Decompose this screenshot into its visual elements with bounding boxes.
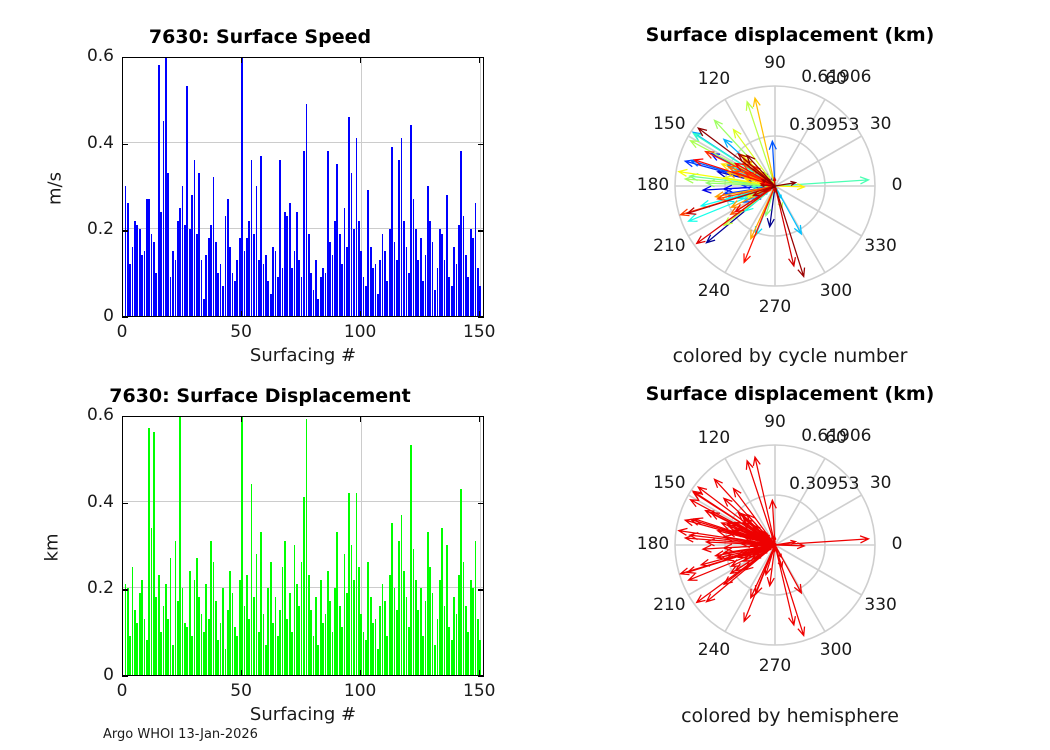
panel-polar-hemisphere: Surface displacement (km) 03060901201501…	[530, 375, 1050, 750]
y-tick-mark	[478, 503, 484, 504]
polar-angle-label-30: 30	[851, 114, 911, 134]
polar-angle-label-240: 240	[684, 281, 744, 301]
y-tick-label: 0.6	[52, 405, 114, 425]
y-tick-mark	[478, 144, 484, 145]
polar-radius-label-0: 0.30953	[789, 115, 859, 135]
x-tick-mark	[479, 311, 480, 317]
x-tick-mark	[360, 311, 361, 317]
panel-surface-speed: 7630: Surface Speed 00.20.40.6050100150 …	[0, 0, 520, 375]
y-tick-mark	[478, 317, 484, 318]
surface-displacement-ylabel: km	[42, 488, 63, 608]
polar-angle-label-120: 120	[684, 428, 744, 448]
x-tick-mark	[241, 57, 242, 63]
argo-float-summary-figure: 7630: Surface Speed 00.20.40.6050100150 …	[0, 0, 1050, 750]
x-tick-mark	[122, 57, 123, 63]
polar-spoke	[775, 495, 862, 545]
y-tick-mark	[478, 589, 484, 590]
x-tick-mark	[122, 416, 123, 422]
x-tick-mark	[122, 670, 123, 676]
polar-cycle-caption: colored by cycle number	[530, 345, 1050, 367]
y-tick-mark	[122, 503, 128, 504]
polar-angle-label-150: 150	[639, 114, 699, 134]
surface-speed-xlabel: Surfacing #	[122, 345, 484, 366]
polar-angle-label-90: 90	[745, 412, 805, 432]
x-tick-label: 100	[320, 322, 400, 342]
y-tick-mark	[122, 144, 128, 145]
polar-radius-label-1: 0.61906	[801, 67, 871, 87]
quiver-arrow	[775, 186, 795, 266]
y-tick-mark	[122, 589, 128, 590]
y-tick-mark	[122, 230, 128, 231]
x-tick-label: 0	[82, 681, 162, 701]
polar-angle-label-90: 90	[745, 53, 805, 73]
polar-angle-label-270: 270	[745, 656, 805, 676]
surface-speed-plot-area	[122, 57, 484, 317]
x-tick-mark	[360, 670, 361, 676]
y-tick-mark	[122, 317, 128, 318]
x-tick-mark	[122, 311, 123, 317]
x-tick-label: 50	[201, 322, 281, 342]
polar-angle-label-210: 210	[639, 595, 699, 615]
polar-angle-label-210: 210	[639, 236, 699, 256]
y-tick-mark	[478, 676, 484, 677]
polar-hemisphere-caption: colored by hemisphere	[530, 705, 1050, 727]
polar-angle-label-240: 240	[684, 640, 744, 660]
polar-spoke	[775, 136, 862, 186]
surface-speed-ylabel: m/s	[45, 129, 66, 249]
x-tick-mark	[479, 57, 480, 63]
bar-series	[123, 58, 483, 316]
polar-spoke	[775, 458, 825, 545]
polar-angle-label-330: 330	[851, 236, 911, 256]
quiver-arrow	[775, 545, 795, 625]
polar-angle-label-300: 300	[806, 281, 866, 301]
polar-radius-label-0: 0.30953	[789, 474, 859, 494]
x-tick-label: 150	[439, 322, 519, 342]
x-tick-mark	[241, 416, 242, 422]
polar-angle-label-180: 180	[623, 175, 683, 195]
bar-series	[123, 417, 483, 675]
x-tick-label: 150	[439, 681, 519, 701]
x-tick-mark	[360, 416, 361, 422]
polar-spoke	[775, 99, 825, 186]
y-tick-mark	[478, 230, 484, 231]
polar-angle-label-150: 150	[639, 473, 699, 493]
polar-radius-label-1: 0.61906	[801, 426, 871, 446]
polar-angle-label-300: 300	[806, 640, 866, 660]
footer-timestamp: Argo WHOI 13-Jan-2026	[103, 727, 258, 742]
polar-angle-label-30: 30	[851, 473, 911, 493]
polar-angle-label-330: 330	[851, 595, 911, 615]
polar-plot-canvas	[530, 0, 1050, 330]
x-tick-label: 50	[201, 681, 281, 701]
panel-surface-displacement: 7630: Surface Displacement 00.20.40.6050…	[0, 375, 520, 750]
x-tick-mark	[360, 57, 361, 63]
x-tick-label: 0	[82, 322, 162, 342]
polar-angle-label-0: 0	[867, 175, 927, 195]
polar-angle-label-120: 120	[684, 69, 744, 89]
polar-angle-label-270: 270	[745, 297, 805, 317]
polar-angle-label-0: 0	[867, 534, 927, 554]
panel-polar-cycle: Surface displacement (km) 03060901201501…	[530, 0, 1050, 375]
y-tick-mark	[122, 676, 128, 677]
y-tick-label: 0.6	[52, 46, 114, 66]
surface-displacement-xlabel: Surfacing #	[122, 704, 484, 725]
surface-speed-title: 7630: Surface Speed	[0, 26, 520, 48]
x-tick-mark	[479, 670, 480, 676]
surface-displacement-title: 7630: Surface Displacement	[0, 385, 520, 407]
surface-displacement-plot-area	[122, 416, 484, 676]
x-tick-label: 100	[320, 681, 400, 701]
x-tick-mark	[241, 311, 242, 317]
polar-angle-label-180: 180	[623, 534, 683, 554]
x-tick-mark	[479, 416, 480, 422]
x-tick-mark	[241, 670, 242, 676]
